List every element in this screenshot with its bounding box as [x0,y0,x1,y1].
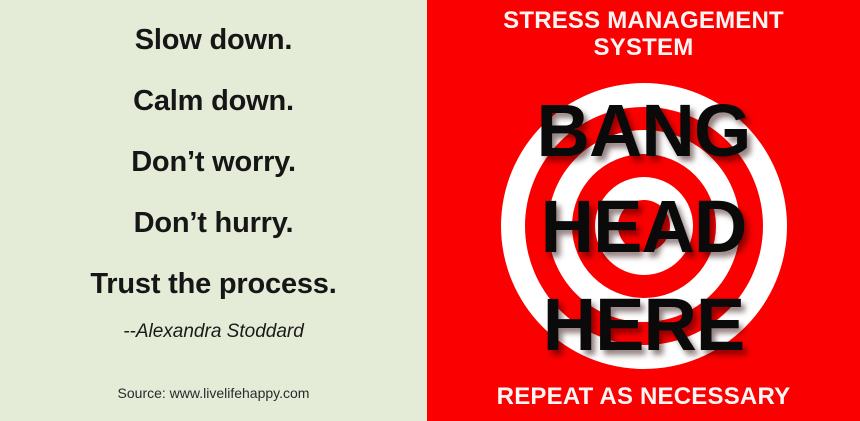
panel-heading-line-2: SYSTEM [427,35,860,62]
poster-image: Slow down. Calm down. Don’t worry. Don’t… [0,0,860,421]
quote-line-2: Calm down. [133,87,294,116]
quote-line-4: Don’t hurry. [134,209,294,238]
slogan-line-bang: BANG [427,94,860,168]
quote-panel: Slow down. Calm down. Don’t worry. Don’t… [0,0,427,421]
quote-source: Source: www.livelifehappy.com [118,385,310,401]
quote-attribution: --Alexandra Stoddard [123,321,304,343]
panel-heading-line-1: STRESS MANAGEMENT [427,8,860,35]
quote-line-3: Don’t worry. [131,148,296,177]
target-panel: STRESS MANAGEMENT SYSTEM BANG HEAD HERE … [427,0,860,421]
panel-heading: STRESS MANAGEMENT SYSTEM [427,8,860,62]
quote-line-5: Trust the process. [90,270,336,299]
quote-line-1: Slow down. [135,26,293,55]
slogan-line-here: HERE [427,288,860,362]
panel-footer: REPEAT AS NECESSARY [427,383,860,411]
slogan-line-head: HEAD [427,190,860,264]
